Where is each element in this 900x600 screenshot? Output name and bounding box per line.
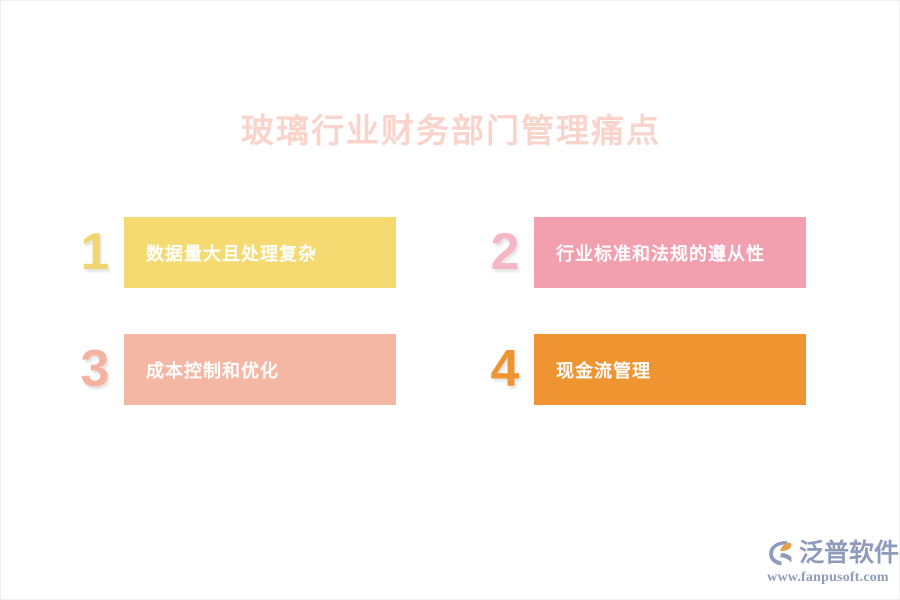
item-number-2: 2 <box>476 217 534 288</box>
pain-point-item-3: 3 成本控制和优化 <box>66 334 396 405</box>
item-label-3: 成本控制和优化 <box>146 357 279 383</box>
logo-url: www.fanpusoft.com <box>767 570 889 586</box>
item-label-4: 现金流管理 <box>556 357 651 383</box>
company-logo: 泛普软件 www.fanpusoft.com <box>767 537 889 589</box>
pain-point-item-1: 1 数据量大且处理复杂 <box>66 217 396 288</box>
logo-top-row: 泛普软件 <box>767 537 889 569</box>
item-card-2: 行业标准和法规的遵从性 <box>534 217 806 288</box>
page-title: 玻璃行业财务部门管理痛点 <box>1 109 900 153</box>
item-card-3: 成本控制和优化 <box>124 334 396 405</box>
pain-point-item-4: 4 现金流管理 <box>476 334 806 405</box>
infographic-canvas: 玻璃行业财务部门管理痛点 1 数据量大且处理复杂 2 行业标准和法规的遵从性 3… <box>0 0 900 600</box>
pain-point-item-2: 2 行业标准和法规的遵从性 <box>476 217 806 288</box>
item-label-1: 数据量大且处理复杂 <box>146 240 317 266</box>
fanpu-logo-icon <box>767 539 797 567</box>
logo-wordmark: 泛普软件 <box>799 539 899 567</box>
item-number-4: 4 <box>476 334 534 405</box>
item-card-1: 数据量大且处理复杂 <box>124 217 396 288</box>
item-label-2: 行业标准和法规的遵从性 <box>556 240 765 266</box>
item-number-3: 3 <box>66 334 124 405</box>
item-number-1: 1 <box>66 217 124 288</box>
item-card-4: 现金流管理 <box>534 334 806 405</box>
